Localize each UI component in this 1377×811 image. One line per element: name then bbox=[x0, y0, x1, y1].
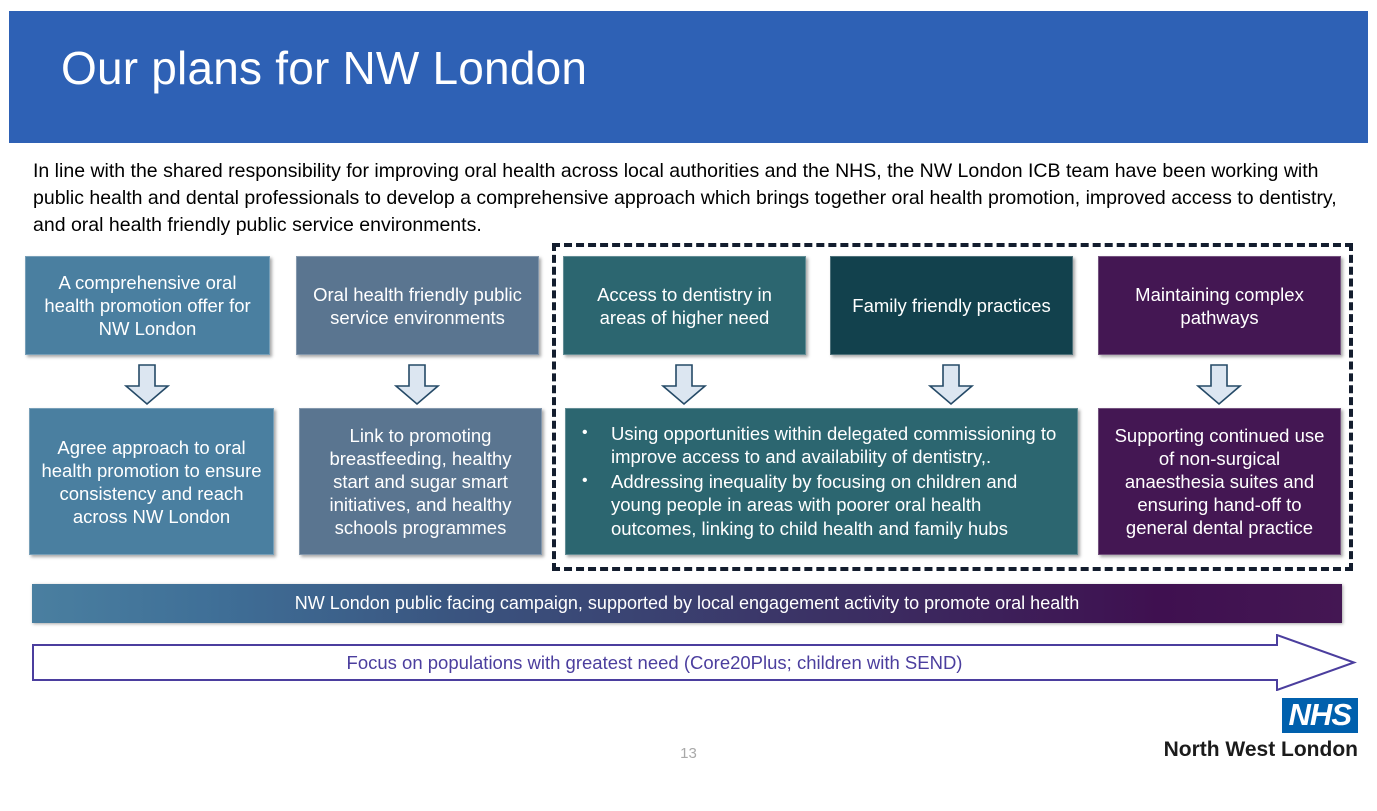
delegated-bullet-list: Using opportunities within delegated com… bbox=[574, 422, 1063, 542]
box-agree-approach-label: Agree approach to oral health promotion … bbox=[40, 436, 263, 528]
box-anaesthesia-suites-label: Supporting continued use of non-surgical… bbox=[1109, 424, 1330, 539]
list-item: Using opportunities within delegated com… bbox=[574, 422, 1063, 469]
nhs-logo-subtitle: North West London bbox=[1164, 738, 1358, 762]
box-access-dentistry[interactable]: Access to dentistry in areas of higher n… bbox=[563, 256, 806, 355]
down-arrow-icon bbox=[394, 364, 440, 406]
box-family-friendly-practices[interactable]: Family friendly practices bbox=[830, 256, 1073, 355]
title-banner: Our plans for NW London bbox=[9, 11, 1368, 143]
box-link-promoting[interactable]: Link to promoting breastfeeding, healthy… bbox=[299, 408, 542, 555]
nhs-badge: NHS bbox=[1282, 698, 1358, 733]
down-arrow-icon bbox=[1196, 364, 1242, 406]
focus-arrow-label: Focus on populations with greatest need … bbox=[32, 634, 1277, 691]
page-title: Our plans for NW London bbox=[61, 41, 587, 95]
box-promotion-offer-label: A comprehensive oral health promotion of… bbox=[36, 271, 259, 340]
box-public-service-environments-label: Oral health friendly public service envi… bbox=[307, 283, 528, 329]
down-arrow-icon bbox=[124, 364, 170, 406]
box-promotion-offer[interactable]: A comprehensive oral health promotion of… bbox=[25, 256, 270, 355]
box-anaesthesia-suites[interactable]: Supporting continued use of non-surgical… bbox=[1098, 408, 1341, 555]
box-agree-approach[interactable]: Agree approach to oral health promotion … bbox=[29, 408, 274, 555]
box-family-friendly-practices-label: Family friendly practices bbox=[841, 294, 1062, 317]
list-item: Addressing inequality by focusing on chi… bbox=[574, 470, 1063, 541]
down-arrow-icon bbox=[928, 364, 974, 406]
box-link-promoting-label: Link to promoting breastfeeding, healthy… bbox=[310, 424, 531, 539]
box-complex-pathways-label: Maintaining complex pathways bbox=[1109, 283, 1330, 329]
campaign-banner: NW London public facing campaign, suppor… bbox=[32, 584, 1342, 623]
box-public-service-environments[interactable]: Oral health friendly public service envi… bbox=[296, 256, 539, 355]
intro-paragraph: In line with the shared responsibility f… bbox=[33, 158, 1338, 239]
box-delegated-commissioning[interactable]: Using opportunities within delegated com… bbox=[565, 408, 1078, 555]
nhs-logo: NHS North West London bbox=[1146, 698, 1358, 758]
focus-arrow: Focus on populations with greatest need … bbox=[32, 634, 1357, 691]
box-access-dentistry-label: Access to dentistry in areas of higher n… bbox=[574, 283, 795, 329]
box-complex-pathways[interactable]: Maintaining complex pathways bbox=[1098, 256, 1341, 355]
down-arrow-icon bbox=[661, 364, 707, 406]
campaign-banner-label: NW London public facing campaign, suppor… bbox=[295, 593, 1079, 614]
